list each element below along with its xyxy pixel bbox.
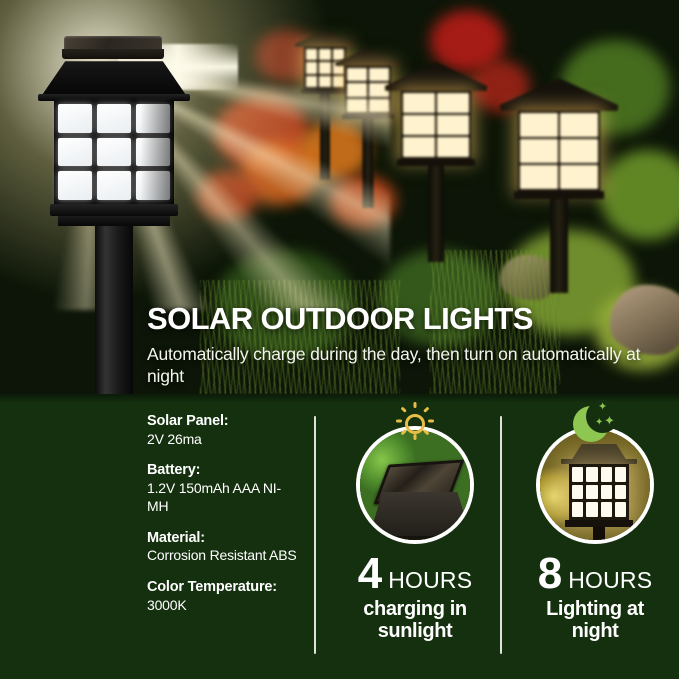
star-icon: ✦ <box>598 402 607 413</box>
night-lantern <box>569 444 629 536</box>
moon-icon: ✦ ✦ ✦ <box>571 402 619 446</box>
spec-label: Color Temperature: <box>147 578 302 597</box>
night-lantern-base <box>565 520 633 527</box>
background-lantern <box>385 62 487 262</box>
spec-label: Solar Panel: <box>147 412 302 431</box>
charging-hours-number: 4 <box>358 552 381 596</box>
specs-panel: Solar Panel: 2V 26ma Battery: 1.2V 150mA… <box>0 394 679 679</box>
foliage-blob <box>198 170 258 220</box>
lantern-windows-closeup <box>378 542 461 544</box>
product-infographic: SOLAR OUTDOOR LIGHTS Automatically charg… <box>0 0 679 679</box>
page-title: SOLAR OUTDOOR LIGHTS <box>147 303 667 336</box>
spec-item-solar-panel: Solar Panel: 2V 26ma <box>147 412 302 448</box>
lantern-base-lower <box>58 216 170 226</box>
night-lantern-roof <box>563 444 635 460</box>
spec-list: Solar Panel: 2V 26ma Battery: 1.2V 150mA… <box>147 412 302 628</box>
sun-icon <box>393 402 437 446</box>
lighting-hours-line: 8 HOURS <box>525 552 665 596</box>
spec-item-color-temperature: Color Temperature: 3000K <box>147 578 302 614</box>
lighting-hours-unit: HOURS <box>568 567 652 594</box>
lighting-hours-number: 8 <box>538 552 561 596</box>
spec-value: 3000K <box>147 597 302 615</box>
badge-lighting: ✦ ✦ ✦ <box>525 402 665 667</box>
star-icon: ✦ <box>595 418 603 428</box>
night-lantern-windows <box>569 464 629 520</box>
lantern-night-closeup <box>540 430 650 540</box>
spec-item-material: Material: Corrosion Resistant ABS <box>147 529 302 565</box>
lantern-roof-closeup <box>368 492 472 540</box>
divider-left <box>314 416 316 654</box>
lantern-base <box>50 204 178 216</box>
spec-label: Material: <box>147 529 302 548</box>
spec-item-battery: Battery: 1.2V 150mAh AAA NI-MH <box>147 461 302 515</box>
charging-hours-unit: HOURS <box>388 567 472 594</box>
charging-hours-line: 4 HOURS <box>345 552 485 596</box>
divider-right <box>500 416 502 654</box>
lighting-description: Lighting at night <box>525 598 665 643</box>
lantern-light-grid <box>58 104 170 200</box>
spec-value: Corrosion Resistant ABS <box>147 547 302 565</box>
spec-label: Battery: <box>147 461 302 480</box>
background-lantern <box>500 78 618 293</box>
solar-panel-closeup <box>360 430 470 540</box>
badge-charging: 4 HOURS charging in sunlight <box>345 402 485 667</box>
headline-block: SOLAR OUTDOOR LIGHTS Automatically charg… <box>147 303 667 387</box>
lantern-body <box>54 100 174 204</box>
night-lantern-pole <box>593 527 605 544</box>
spec-value: 1.2V 150mAh AAA NI-MH <box>147 480 302 516</box>
lantern-lip-closeup <box>364 536 474 544</box>
solar-panel-side <box>62 49 164 59</box>
charging-description: charging in sunlight <box>345 598 485 643</box>
spec-value: 2V 26ma <box>147 431 302 449</box>
star-icon: ✦ <box>604 414 615 427</box>
sun-ring <box>405 414 425 434</box>
page-subtitle: Automatically charge during the day, the… <box>147 343 647 387</box>
